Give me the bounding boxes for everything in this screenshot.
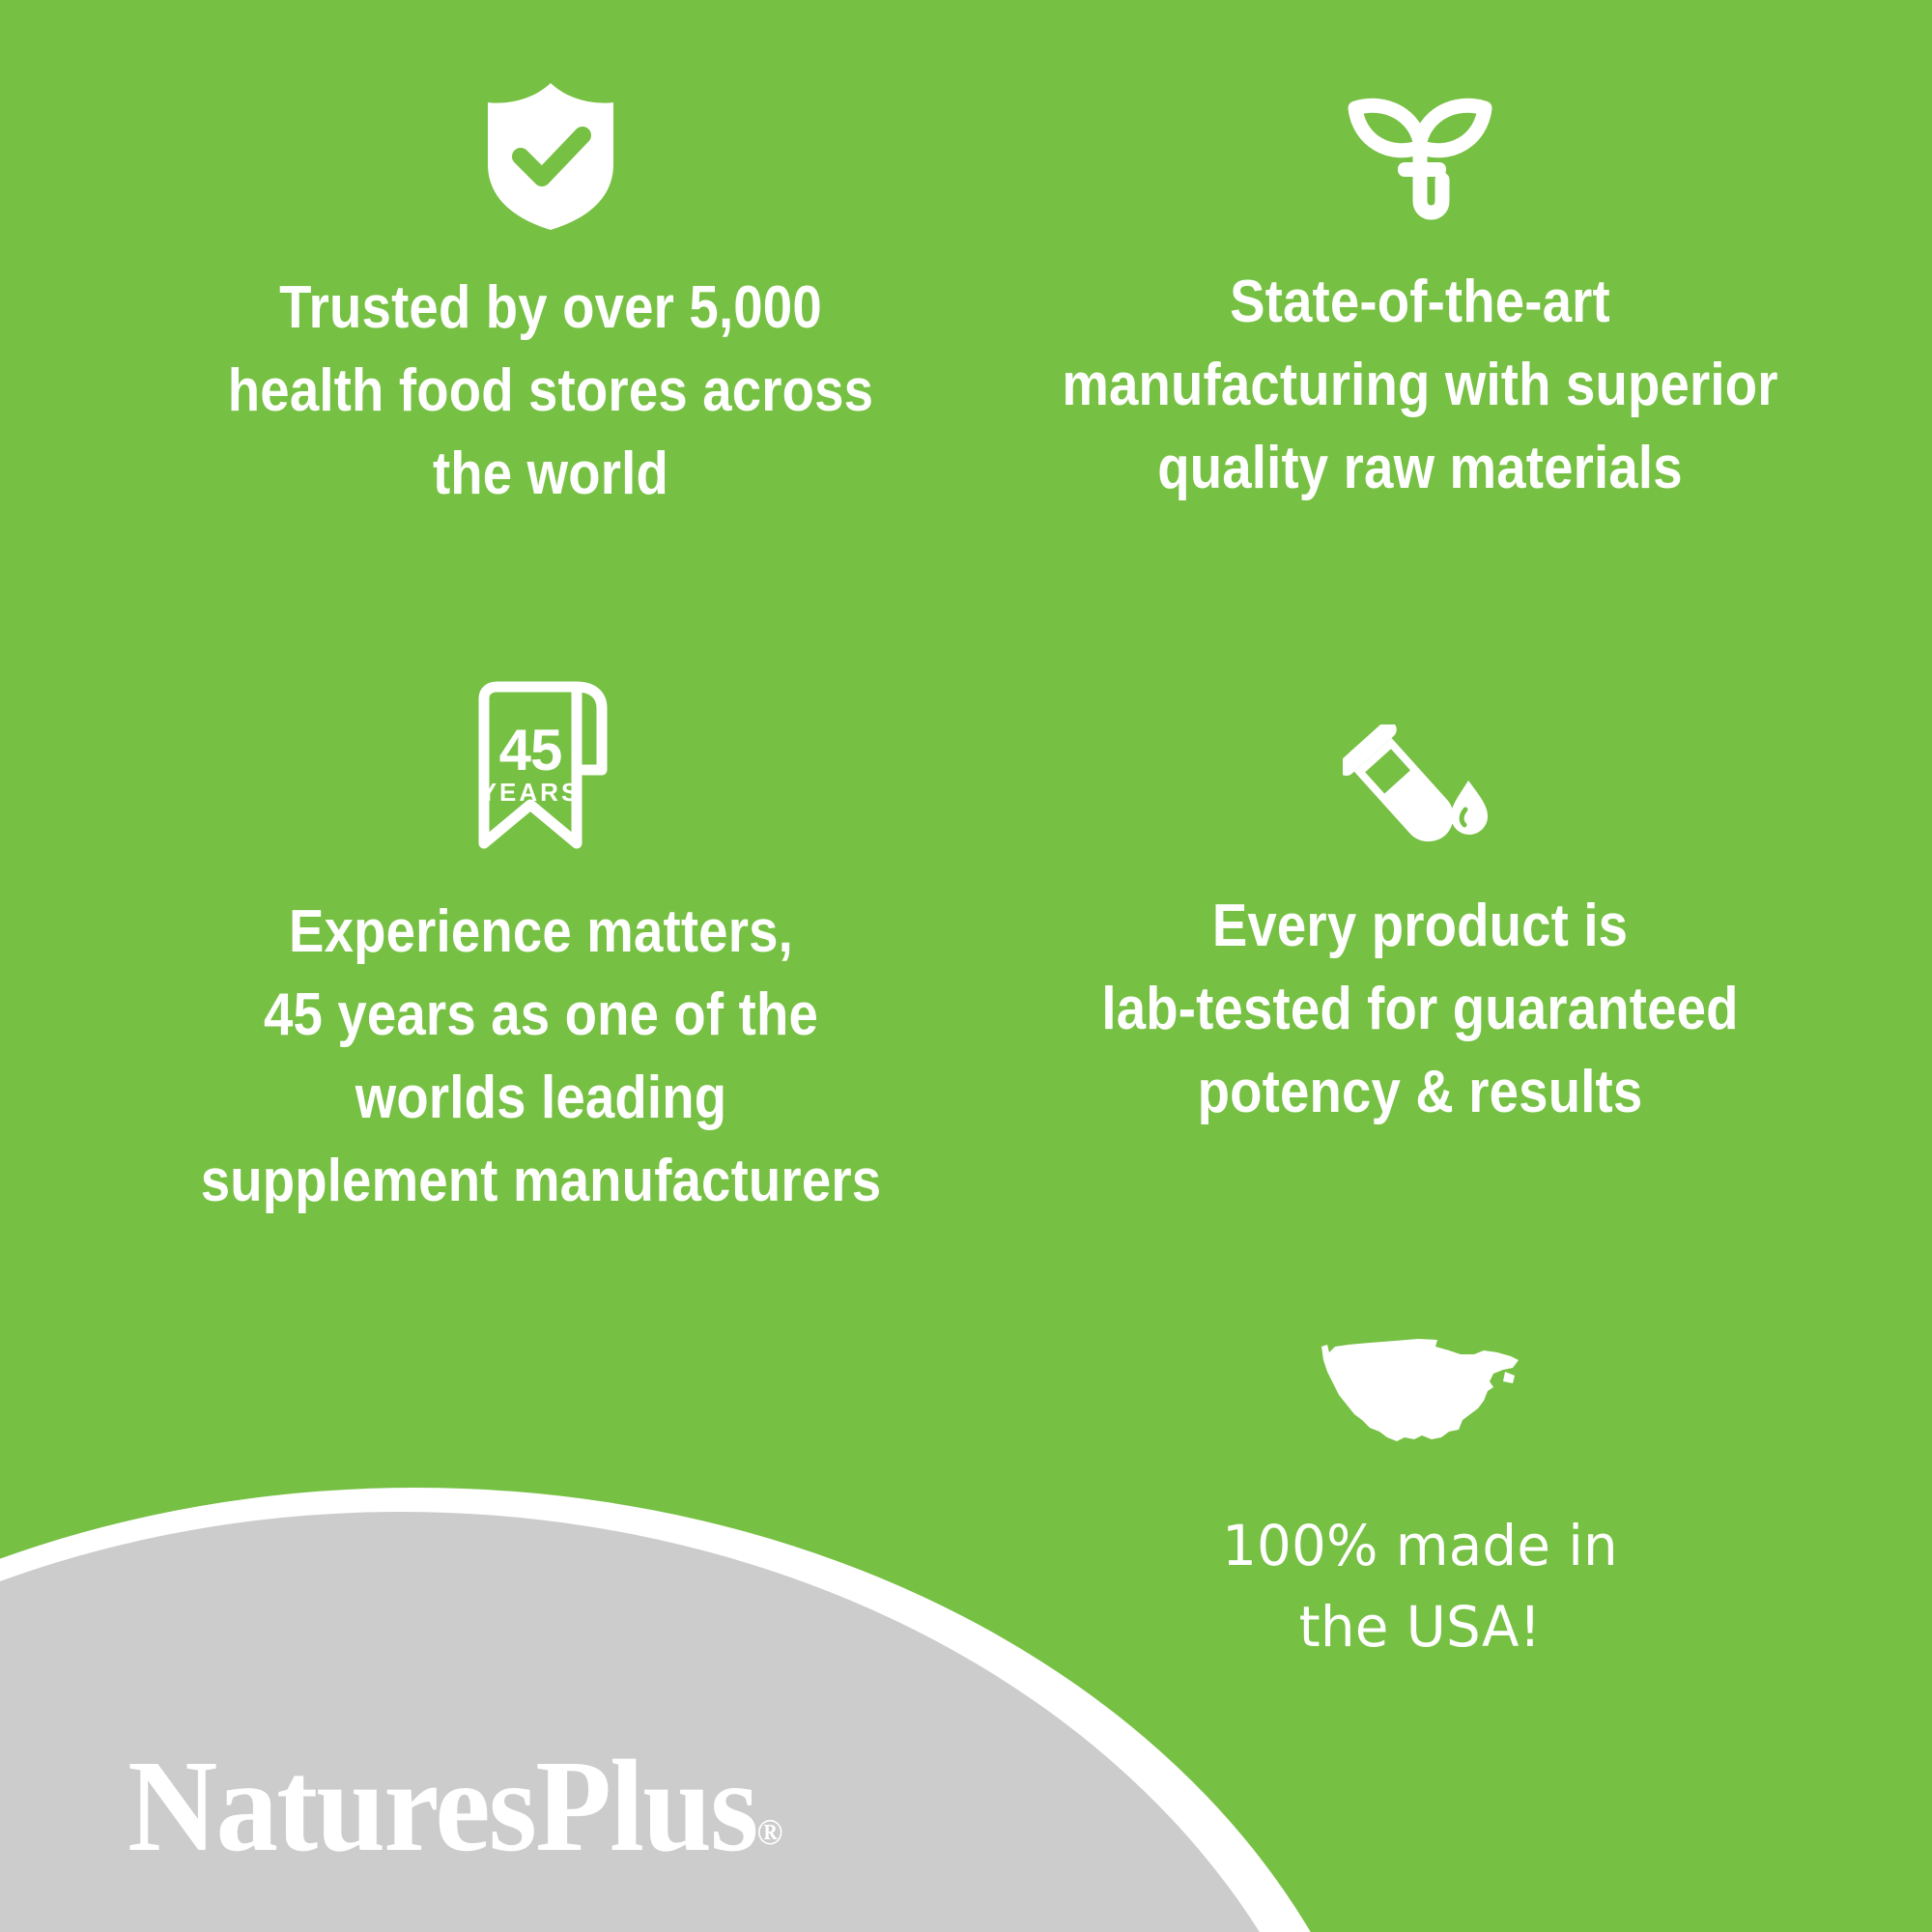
- feature-caption: State-of-the-art manufacturing with supe…: [1020, 261, 1819, 510]
- feature-caption: 100% made in the USA!: [999, 1505, 1842, 1667]
- icon-container: 45 YEARS: [77, 715, 1005, 850]
- feature-state-of-the-art: State-of-the-art manufacturing with supe…: [966, 116, 1874, 510]
- brand-logo: NaturesPlus®: [128, 1739, 804, 1874]
- ribbon-unit: YEARS: [480, 778, 582, 807]
- shield-check-icon: [480, 81, 621, 232]
- promo-poster: Trusted by over 5,000 health food stores…: [0, 0, 1932, 1932]
- feature-experience: 45 YEARS Experience matters, 45 years as…: [77, 715, 1005, 1223]
- test-tube-droplet-icon: [1343, 724, 1497, 850]
- brand-name: NaturesPlus: [128, 1734, 756, 1879]
- feature-caption: Every product is lab-tested for guarante…: [1020, 885, 1819, 1134]
- feature-grid: Trusted by over 5,000 health food stores…: [0, 0, 1932, 1932]
- icon-container: [985, 1323, 1855, 1449]
- 45-years-ribbon-icon: 45 YEARS: [469, 681, 613, 850]
- ribbon-number: 45: [499, 718, 562, 782]
- feature-trusted: Trusted by over 5,000 health food stores…: [97, 116, 1005, 516]
- feature-caption: Experience matters, 45 years as one of t…: [133, 891, 950, 1223]
- feature-lab-tested: Every product is lab-tested for guarante…: [966, 720, 1874, 1134]
- feature-caption: Trusted by over 5,000 health food stores…: [151, 267, 950, 516]
- usa-map-icon: [1314, 1331, 1526, 1449]
- brand-wordmark: NaturesPlus®: [128, 1739, 770, 1900]
- icon-container: [97, 116, 1005, 232]
- seedling-plant-icon: [1344, 87, 1496, 232]
- icon-container: [966, 720, 1874, 850]
- feature-made-in-usa: 100% made in the USA!: [985, 1323, 1855, 1667]
- icon-container: [966, 116, 1874, 232]
- registered-trademark-icon: ®: [756, 1812, 782, 1853]
